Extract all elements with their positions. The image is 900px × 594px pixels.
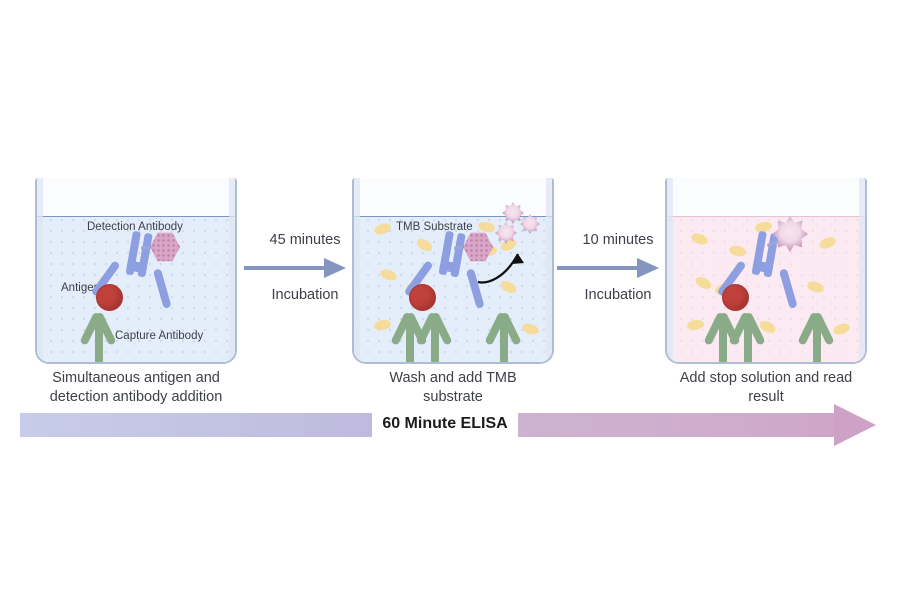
transition-1-duration: 45 minutes: [240, 232, 370, 248]
elisa-workflow-figure: Detection Antibody Antigen Capture Antib…: [0, 0, 900, 594]
timeline-segment-left: [20, 413, 372, 437]
transition-2: 10 minutes Incubation: [553, 232, 683, 303]
timeline-arrowhead-icon: [834, 404, 876, 446]
antigen: [722, 284, 749, 311]
transition-2-duration: 10 minutes: [553, 232, 683, 248]
caption-step-2: Wash and add TMB substrate: [328, 369, 578, 407]
caption-step-3: Add stop solution and read result: [641, 369, 891, 407]
well-1-gutter-left: [37, 178, 43, 362]
well-1-label-capture-antibody: Capture Antibody: [115, 330, 203, 342]
transition-1-arrow-icon: [240, 257, 370, 279]
antigen: [409, 284, 436, 311]
timeline-segment-right: [518, 413, 836, 437]
transition-1: 45 minutes Incubation: [240, 232, 370, 303]
well-2-gutter-right: [546, 178, 552, 362]
well-step-1: Detection Antibody Antigen Capture Antib…: [35, 178, 237, 364]
antigen: [96, 284, 123, 311]
timeline-bar: 60 Minute ELISA: [0, 405, 900, 445]
catalysis-arrow-icon: [474, 240, 536, 286]
caption-step-2-line-1: Wash and add TMB: [328, 369, 578, 388]
capture-antibody: [480, 290, 528, 362]
figure-title: 60 Minute ELISA: [372, 415, 518, 433]
transition-1-action: Incubation: [240, 287, 370, 303]
transition-2-action: Incubation: [553, 287, 683, 303]
caption-step-3-line-1: Add stop solution and read: [641, 369, 891, 388]
well-step-2: TMB Substrate: [352, 178, 554, 364]
capture-antibody: [793, 290, 841, 362]
caption-step-1: Simultaneous antigen and detection antib…: [11, 369, 261, 407]
well-1-gutter-right: [229, 178, 235, 362]
transition-2-arrow-icon: [553, 257, 683, 279]
caption-step-1-line-1: Simultaneous antigen and: [11, 369, 261, 388]
well-3-gutter-right: [859, 178, 865, 362]
well-step-3: [665, 178, 867, 364]
